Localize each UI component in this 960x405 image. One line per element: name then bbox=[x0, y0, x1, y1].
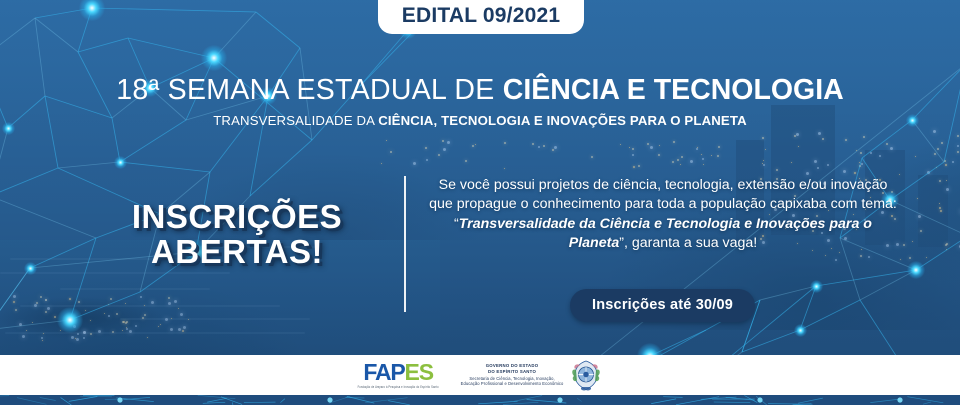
government-text-block: GOVERNO DO ESTADO DO ESPÍRITO SANTO Secr… bbox=[461, 363, 564, 386]
footer-bottom-strip bbox=[0, 395, 960, 405]
fapes-wordmark: FAPES bbox=[363, 361, 432, 384]
espirito-santo-coat-of-arms-icon bbox=[570, 358, 602, 392]
edital-badge-label: EDITAL 09/2021 bbox=[402, 4, 560, 28]
fapes-logo: FAPES Fundação de Amparo à Pesquisa e In… bbox=[358, 361, 439, 390]
callout-line-2: ABERTAS! bbox=[112, 235, 362, 270]
fapes-tagline: Fundação de Amparo à Pesquisa e Inovação… bbox=[358, 386, 439, 390]
subtitle-bold: CIÊNCIA, TECNOLOGIA E INOVAÇÕES PARA O P… bbox=[378, 113, 747, 128]
callout-line-1: INSCRIÇÕES bbox=[112, 200, 362, 235]
campaign-banner: EDITAL 09/2021 18ª SEMANA ESTADUAL DE CI… bbox=[0, 0, 960, 405]
main-title-light: 18ª SEMANA ESTADUAL DE bbox=[116, 74, 503, 106]
paragraph-part-2: ”, garanta a sua vaga! bbox=[619, 235, 757, 251]
deadline-button[interactable]: Inscrições até 30/09 bbox=[570, 289, 755, 322]
government-logo: GOVERNO DO ESTADO DO ESPÍRITO SANTO Secr… bbox=[461, 358, 603, 392]
vertical-divider bbox=[404, 176, 406, 312]
description-paragraph: Se você possui projetos de ciência, tecn… bbox=[428, 176, 898, 254]
government-line-2: DO ESPÍRITO SANTO bbox=[461, 369, 564, 375]
subtitle-light: TRANSVERSALIDADE DA bbox=[213, 113, 378, 128]
fapes-word-green: ES bbox=[405, 359, 433, 385]
main-title-bold: CIÊNCIA E TECNOLOGIA bbox=[503, 74, 844, 106]
footer-logo-bar: FAPES Fundação de Amparo à Pesquisa e In… bbox=[0, 355, 960, 395]
edital-badge: EDITAL 09/2021 bbox=[378, 0, 584, 34]
headline-block: 18ª SEMANA ESTADUAL DE CIÊNCIA E TECNOLO… bbox=[0, 76, 960, 128]
subtitle: TRANSVERSALIDADE DA CIÊNCIA, TECNOLOGIA … bbox=[0, 113, 960, 128]
registrations-open-callout: INSCRIÇÕES ABERTAS! bbox=[112, 200, 362, 270]
footer-strip-network bbox=[0, 395, 960, 405]
fapes-word-blue: FAP bbox=[363, 359, 404, 385]
main-title: 18ª SEMANA ESTADUAL DE CIÊNCIA E TECNOLO… bbox=[0, 76, 960, 106]
government-line-4: Educação Profissional e Desenvolvimento … bbox=[461, 381, 564, 386]
